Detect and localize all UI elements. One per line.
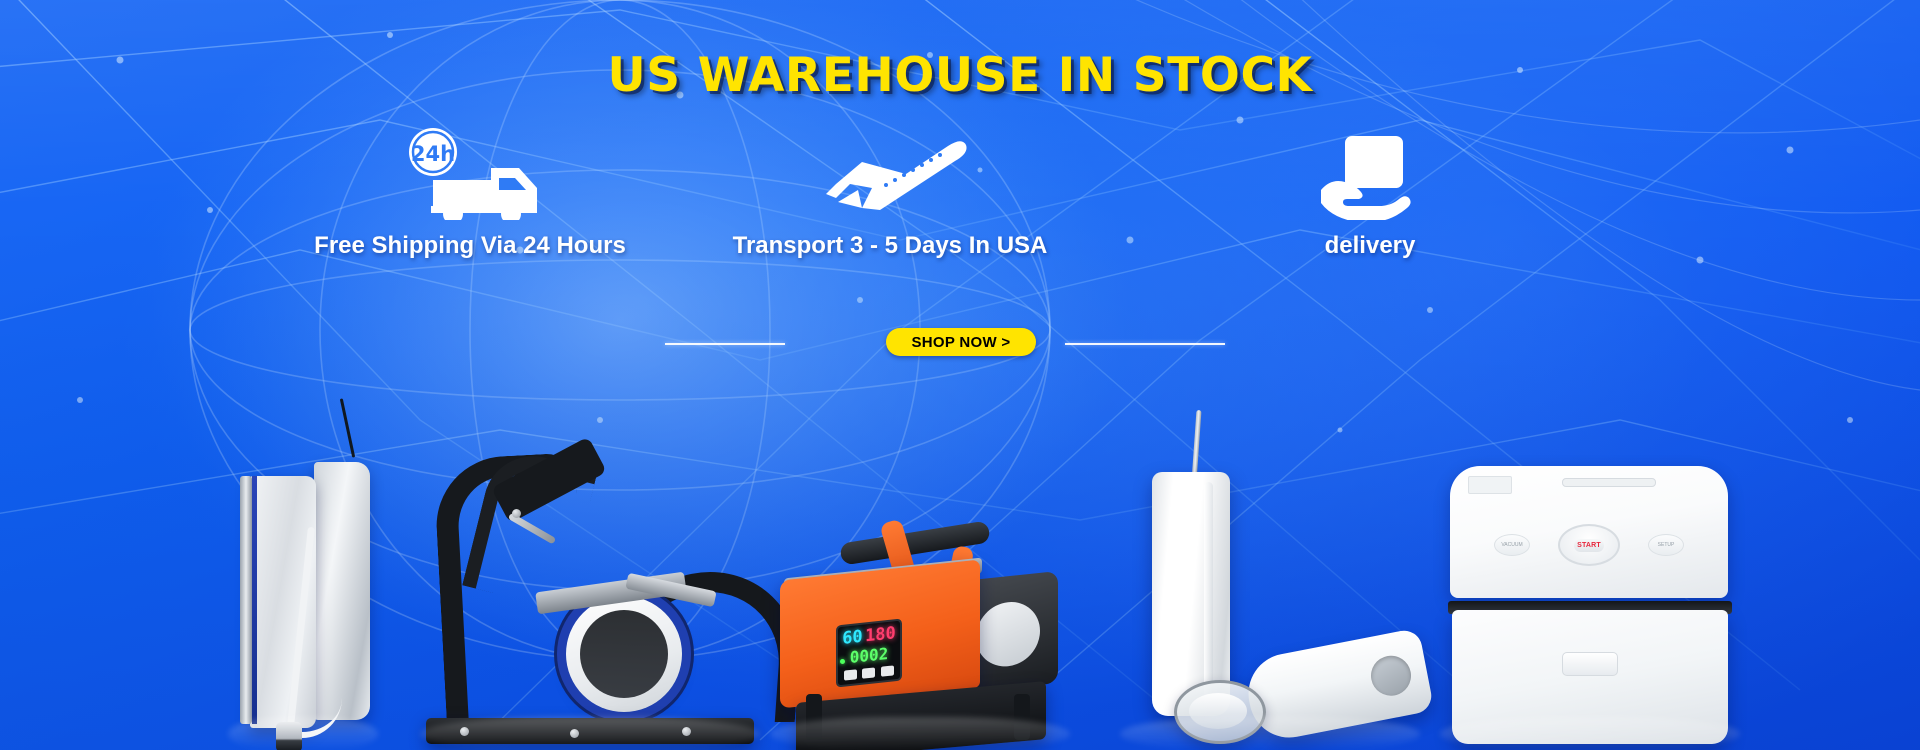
- machine-vacuum-button[interactable]: VACUUM: [1494, 534, 1530, 556]
- feature-transport-time: Transport 3 - 5 Days In USA: [700, 128, 1080, 260]
- panel-button-menu[interactable]: [844, 669, 857, 680]
- press-screw: [570, 729, 579, 738]
- plate-blue-strip: [252, 476, 257, 724]
- machine-warning-label: [1468, 476, 1512, 494]
- panel-button-down[interactable]: [881, 665, 894, 676]
- feature-label: Transport 3 - 5 Days In USA: [700, 232, 1080, 260]
- product-tumbler-press: 60 180 0002: [770, 470, 1070, 750]
- feature-row: 24h Free Shipping Via 24 Hours: [0, 128, 1920, 268]
- press-screw: [682, 727, 691, 736]
- product-heat-press-plate: [228, 450, 378, 750]
- feature-delivery: delivery: [1230, 128, 1510, 260]
- airplane-icon: [700, 128, 1080, 220]
- feature-label: delivery: [1230, 232, 1510, 260]
- start-button-label: START: [1574, 539, 1604, 552]
- hand-package-icon: [1230, 128, 1510, 220]
- machine-setup-button[interactable]: SETUP: [1648, 534, 1684, 556]
- panel-button-up[interactable]: [862, 667, 875, 678]
- tumbler-clear-lid: [1174, 680, 1266, 744]
- promotional-banner: US WAREHOUSE IN STOCK 24h: [0, 0, 1920, 750]
- product-showcase: 60 180 0002: [0, 320, 1920, 750]
- press-screw: [460, 727, 469, 736]
- plate-top-wire: [340, 398, 355, 457]
- feature-label: Free Shipping Via 24 Hours: [300, 232, 640, 260]
- product-3d-sublimation-machine: VACUUM START SETUP: [1440, 430, 1740, 750]
- tumbler-lying: [1242, 628, 1435, 745]
- machine-body: [1452, 610, 1728, 744]
- plate-edge: [240, 476, 252, 724]
- truck-24h-icon: 24h: [300, 128, 640, 220]
- plate-connector-plug: [276, 722, 302, 750]
- machine-vent: [1562, 478, 1656, 487]
- machine-start-button[interactable]: START: [1558, 524, 1620, 566]
- svg-text:24h: 24h: [411, 142, 455, 166]
- page-title: US WAREHOUSE IN STOCK: [0, 48, 1920, 103]
- press-screw: [512, 509, 521, 518]
- product-mug-heat-press: [420, 420, 760, 750]
- machine-door-latch[interactable]: [1562, 652, 1618, 676]
- display-target-temperature: 180: [865, 625, 896, 645]
- product-sublimation-tumblers: [1120, 450, 1420, 750]
- press-leg: [1014, 694, 1030, 740]
- display-current-temperature: 60: [842, 629, 862, 648]
- control-panel-display[interactable]: 60 180 0002: [836, 619, 902, 688]
- press-leg: [806, 694, 822, 740]
- press-base: [426, 718, 754, 744]
- feature-free-shipping: 24h Free Shipping Via 24 Hours: [300, 128, 640, 260]
- power-indicator-led: [840, 659, 845, 664]
- display-timer: 0002: [841, 645, 897, 667]
- machine-lid: VACUUM START SETUP: [1450, 466, 1728, 598]
